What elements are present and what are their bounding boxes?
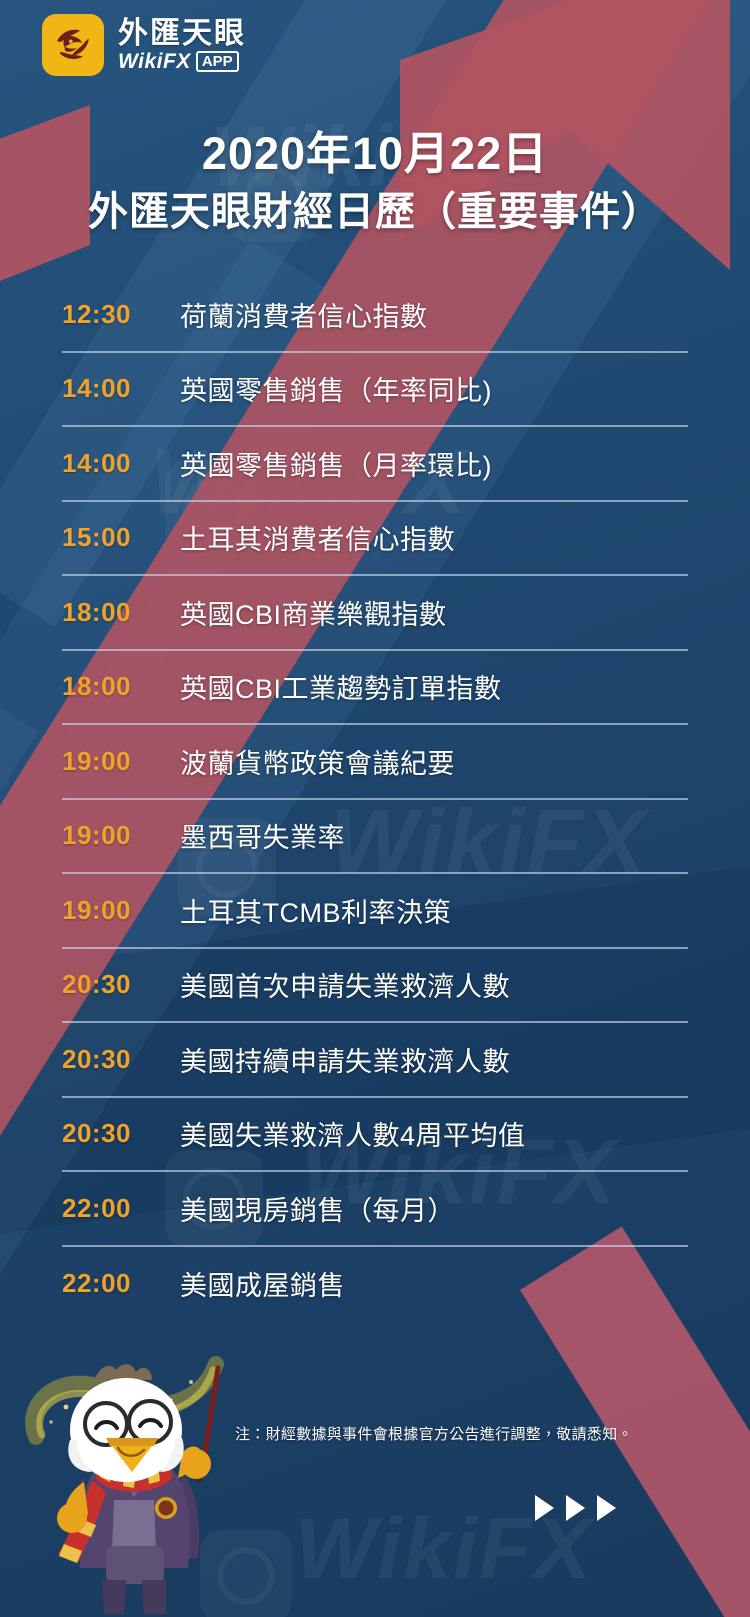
event-name: 美國現房銷售（每月） [180,1189,455,1228]
event-time: 14:00 [62,373,180,404]
poster-canvas: WikiFX WikiFX WikiFX WikiFX WikiFX [0,0,750,1617]
table-row: 14:00英國零售銷售（年率同比) [62,353,688,428]
event-time: 14:00 [62,448,180,479]
app-badge: APP [196,51,239,72]
title-subtitle: 外匯天眼財經日歷（重要事件） [0,186,750,238]
table-row: 14:00英國零售銷售（月率環比) [62,427,688,502]
event-time: 15:00 [62,522,180,553]
event-name: 美國首次申請失業救濟人數 [180,965,510,1004]
event-time: 12:30 [62,299,180,330]
event-time: 18:00 [62,671,180,702]
wizard-eagle-mascot-icon [6,1322,256,1617]
table-row: 18:00英國CBI工業趨勢訂單指數 [62,651,688,726]
table-row: 19:00波蘭貨幣政策會議紀要 [62,725,688,800]
footer-note: 注：財經數據與事件會根據官方公告進行調整，敬請悉知。 [235,1423,633,1444]
event-time: 20:30 [62,1118,180,1149]
event-name: 英國零售銷售（月率環比) [180,444,492,483]
table-row: 12:30荷蘭消費者信心指數 [62,278,688,353]
event-name: 荷蘭消費者信心指數 [180,295,428,334]
brand-logo-bar[interactable]: 外匯天眼 WikiFX APP [42,14,246,76]
event-name: 美國持續申請失業救濟人數 [180,1040,510,1079]
table-row: 18:00英國CBI商業樂觀指數 [62,576,688,651]
event-name: 土耳其消費者信心指數 [180,518,455,557]
event-time: 20:30 [62,1044,180,1075]
table-row: 19:00土耳其TCMB利率決策 [62,874,688,949]
event-name: 墨西哥失業率 [180,816,345,855]
event-list: 12:30荷蘭消費者信心指數14:00英國零售銷售（年率同比)14:00英國零售… [0,278,750,1321]
event-time: 20:30 [62,969,180,1000]
wikifx-eagle-logo-icon [42,14,104,76]
event-time: 19:00 [62,895,180,926]
event-time: 18:00 [62,597,180,628]
event-time: 19:00 [62,746,180,777]
title-date: 2020年10月22日 [0,126,750,182]
page-title: 2020年10月22日 外匯天眼財經日歷（重要事件） [0,126,750,238]
event-name: 英國零售銷售（年率同比) [180,369,492,408]
brand-name-en: WikiFX [118,51,191,72]
brand-name-cn: 外匯天眼 [118,18,246,50]
table-row: 20:30美國首次申請失業救濟人數 [62,949,688,1024]
event-name: 英國CBI工業趨勢訂單指數 [180,667,502,706]
table-row: 15:00土耳其消費者信心指數 [62,502,688,577]
table-row: 22:00美國成屋銷售 [62,1247,688,1322]
table-row: 22:00美國現房銷售（每月） [62,1172,688,1247]
event-time: 22:00 [62,1268,180,1299]
event-time: 22:00 [62,1193,180,1224]
play-arrow-icon [597,1495,616,1521]
brand-text: 外匯天眼 WikiFX APP [118,18,246,72]
event-name: 美國失業救濟人數4周平均值 [180,1114,526,1153]
table-row: 20:30美國持續申請失業救濟人數 [62,1023,688,1098]
event-name: 美國成屋銷售 [180,1264,345,1303]
event-name: 英國CBI商業樂觀指數 [180,593,447,632]
play-arrow-icon [566,1495,585,1521]
event-time: 19:00 [62,820,180,851]
event-name: 土耳其TCMB利率決策 [180,891,451,930]
play-arrow-icon [535,1495,554,1521]
table-row: 19:00墨西哥失業率 [62,800,688,875]
table-row: 20:30美國失業救濟人數4周平均值 [62,1098,688,1173]
event-name: 波蘭貨幣政策會議紀要 [180,742,455,781]
triple-play-arrow-icon [535,1495,616,1521]
